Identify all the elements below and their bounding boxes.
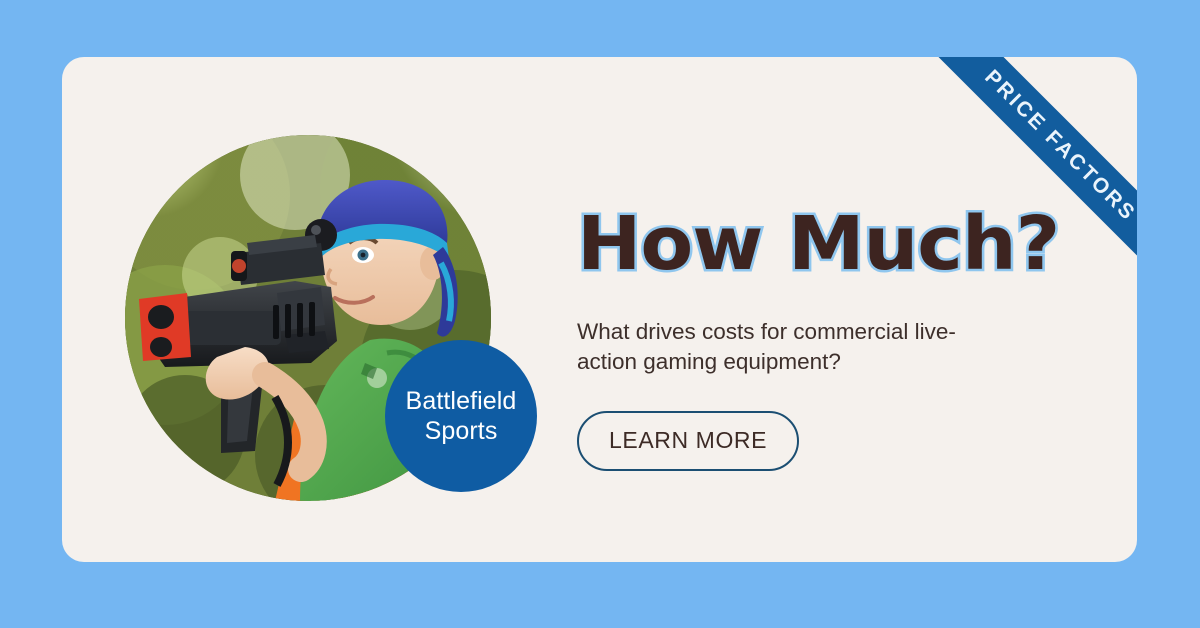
brand-badge-line1: Battlefield (406, 386, 517, 417)
promo-card: Battlefield Sports How Much? What drives… (62, 57, 1137, 562)
content-column: How Much? What drives costs for commerci… (577, 207, 1057, 471)
page-title: How Much? (577, 207, 1076, 281)
learn-more-button[interactable]: LEARN MORE (577, 411, 799, 471)
brand-badge: Battlefield Sports (385, 340, 537, 492)
brand-badge-line2: Sports (425, 416, 498, 447)
promo-banner: Battlefield Sports How Much? What drives… (0, 0, 1200, 628)
subtitle-text: What drives costs for commercial live-ac… (577, 317, 997, 377)
